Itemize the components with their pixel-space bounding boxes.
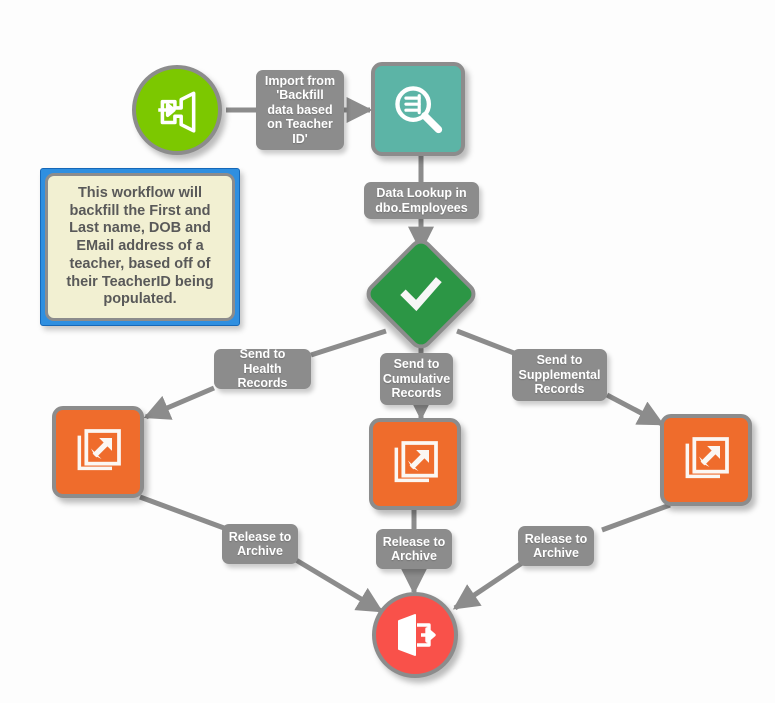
data-lookup-node[interactable] xyxy=(371,62,465,156)
edge-label-send-health[interactable]: Send to Health Records xyxy=(214,349,311,389)
workflow-note-text: This workflow will backfill the First an… xyxy=(45,173,235,321)
edge-label-send-supplemental[interactable]: Send to Supplemental Records xyxy=(512,349,607,401)
decision-node[interactable] xyxy=(365,254,477,334)
edge-supplemental-to-release-right xyxy=(602,505,670,530)
door-exit-icon xyxy=(391,611,439,659)
move-export-icon xyxy=(678,432,734,488)
edge-health-to-release-left xyxy=(140,497,224,528)
health-records-node[interactable] xyxy=(52,406,144,498)
start-node[interactable] xyxy=(132,65,222,155)
end-node[interactable] xyxy=(372,592,458,678)
edge-label-import[interactable]: Import from 'Backfill data based on Teac… xyxy=(256,70,344,150)
edge-label-send-cumulative[interactable]: Send to Cumulative Records xyxy=(380,353,453,405)
cumulative-records-node[interactable] xyxy=(369,418,461,510)
edge-label-release-right[interactable]: Release to Archive xyxy=(518,526,594,566)
edge-release-right-to-end xyxy=(455,563,522,608)
edge-decision-to-health-label xyxy=(311,331,386,355)
edge-decision-to-supplemental-label xyxy=(457,331,519,355)
edge-label-release-center[interactable]: Release to Archive xyxy=(376,529,452,569)
move-export-icon xyxy=(387,436,443,492)
door-enter-icon xyxy=(152,85,202,135)
workflow-note[interactable]: This workflow will backfill the First an… xyxy=(40,168,240,326)
edge-health-label-to-node xyxy=(146,388,214,417)
workflow-canvas[interactable]: This workflow will backfill the First an… xyxy=(0,0,775,703)
edge-label-data-lookup[interactable]: Data Lookup in dbo.Employees xyxy=(364,182,479,219)
supplemental-records-node[interactable] xyxy=(660,414,752,506)
edge-release-left-to-end xyxy=(296,560,381,611)
data-lookup-magnifier-icon xyxy=(389,80,447,138)
edge-supplemental-label-to-node xyxy=(607,395,662,424)
move-export-icon xyxy=(70,424,126,480)
edge-label-release-left[interactable]: Release to Archive xyxy=(222,524,298,564)
